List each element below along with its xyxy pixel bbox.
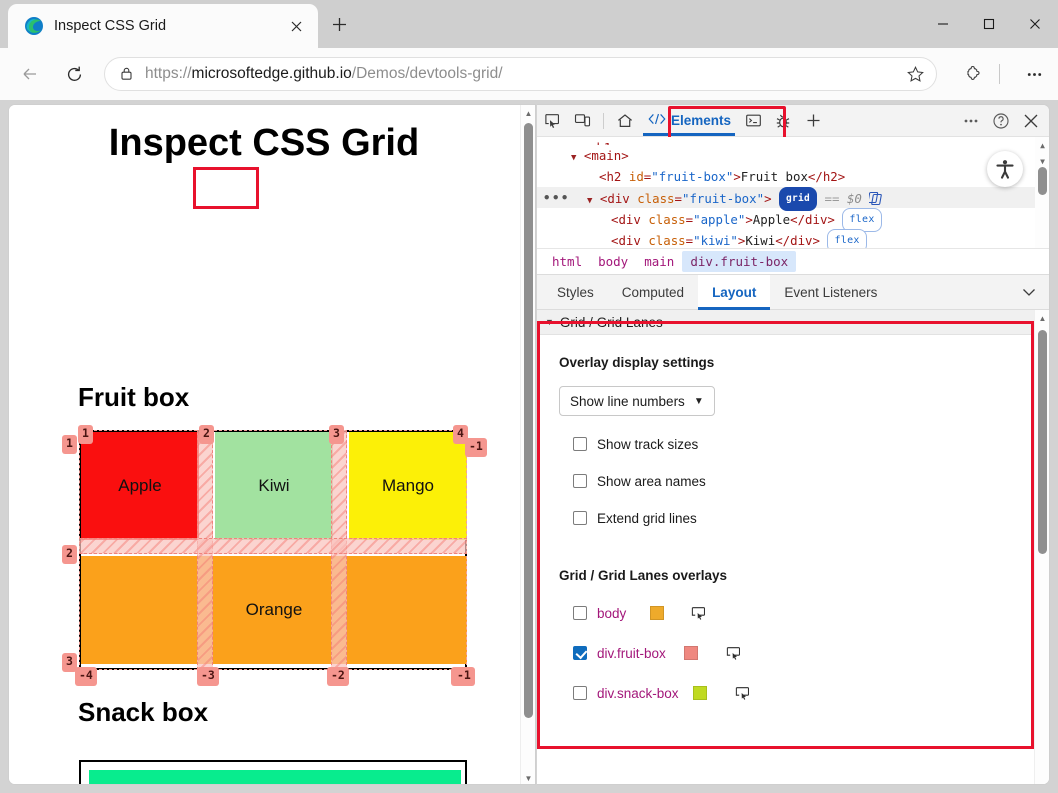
grid-line-badge: 1 — [62, 435, 77, 454]
devtools-panel: Elements — [537, 104, 1050, 785]
dom-attr-value: "apple" — [693, 212, 745, 227]
dom-tag-main: main — [591, 148, 621, 163]
dom-row-main[interactable]: ▼ <main> — [537, 145, 1050, 166]
tab-elements-label: Elements — [671, 113, 731, 128]
breadcrumb: html body main div.fruit-box — [537, 248, 1050, 274]
grid-cell-seaweed: Seaweed — [89, 770, 461, 785]
checkbox-extend-grid-lines[interactable]: Extend grid lines — [573, 504, 1050, 532]
overlay-name: body — [597, 606, 626, 621]
toolbar-right-actions — [947, 56, 1058, 92]
overlay-settings-title: Overlay display settings — [559, 355, 1050, 370]
ellipsis-icon[interactable] — [1016, 56, 1052, 92]
scrollbar-thumb[interactable] — [1038, 330, 1047, 554]
dom-row-partial[interactable]: <h1> — [537, 137, 1050, 145]
dom-equals-label: == — [825, 191, 847, 206]
new-tab-button[interactable] — [325, 10, 353, 38]
dom-text-node: Fruit box — [741, 169, 808, 184]
checkbox-label: Extend grid lines — [597, 511, 697, 526]
line-mode-select[interactable]: Show line numbers ▼ — [559, 386, 715, 416]
copy-styles-icon[interactable] — [869, 191, 884, 206]
chevron-down-icon[interactable] — [1020, 283, 1038, 306]
toolbar-divider — [999, 64, 1000, 84]
select-element-icon[interactable] — [726, 644, 744, 662]
browser-window: Inspect CSS Grid — [0, 0, 1058, 793]
caret-down-icon[interactable]: ▼ — [545, 317, 554, 327]
back-arrow-icon[interactable] — [12, 56, 48, 92]
maximize-button[interactable] — [966, 0, 1012, 48]
home-icon[interactable] — [612, 108, 638, 134]
checkbox-show-track-sizes[interactable]: Show track sizes — [573, 430, 1050, 458]
layout-pane-scrollbar[interactable]: ▲ ▼ — [1034, 310, 1049, 785]
tab-layout[interactable]: Layout — [698, 275, 770, 310]
devtools-toolbar: Elements — [537, 105, 1050, 137]
grid-line-badge: 2 — [199, 425, 214, 444]
grid-section-header[interactable]: ▼ Grid / Grid Lanes — [537, 310, 1050, 335]
extensions-puzzle-icon[interactable] — [955, 56, 991, 92]
tab-event-listeners[interactable]: Event Listeners — [770, 275, 891, 310]
reload-icon[interactable] — [56, 56, 92, 92]
checkbox-label: Show area names — [597, 474, 706, 489]
browser-toolbar: https://microsoftedge.github.io/Demos/de… — [0, 48, 1058, 100]
url-scheme: https:// — [145, 65, 192, 82]
console-icon[interactable] — [740, 108, 766, 134]
dom-row-more-icon[interactable]: ••• — [543, 187, 570, 208]
grid-line-badge: -1 — [453, 667, 475, 686]
checkbox-box[interactable] — [573, 686, 587, 700]
inspect-element-icon[interactable] — [539, 108, 565, 134]
scroll-up-arrow-icon[interactable]: ▲ — [1035, 310, 1050, 326]
overlays-title: Grid / Grid Lanes overlays — [559, 568, 1050, 583]
dom-attr-name: id — [629, 169, 644, 184]
dom-attr-value: "fruit-box" — [651, 169, 733, 184]
overlays-group: Grid / Grid Lanes overlays — [537, 568, 1050, 583]
breadcrumb-item-div-fruit-box[interactable]: div.fruit-box — [682, 251, 796, 272]
breadcrumb-item-html[interactable]: html — [544, 251, 590, 272]
dom-row-h2[interactable]: <h2 id="fruit-box">Fruit box</h2> — [537, 166, 1050, 187]
fruit-box-grid: Apple Kiwi Mango Orange — [79, 430, 467, 670]
scroll-up-arrow-icon[interactable]: ▲ — [521, 105, 536, 121]
grid-line-badge: 2 — [62, 545, 77, 564]
page-scrollbar[interactable]: ▲ ▼ — [520, 105, 535, 785]
device-emulation-icon[interactable] — [569, 108, 595, 134]
breadcrumb-item-body[interactable]: body — [590, 251, 636, 272]
overlay-item-body[interactable]: body — [573, 593, 1050, 633]
overlay-item-div-snack-box[interactable]: div.snack-box — [573, 673, 1050, 713]
line-mode-select-value: Show line numbers — [570, 394, 685, 409]
window-controls — [920, 0, 1058, 48]
grid-cell-kiwi: Kiwi — [215, 432, 333, 540]
dom-tree[interactable]: <h1> ▼ <main> <h2 id="fruit-box">Fruit b… — [537, 137, 1050, 248]
grid-section-title: Grid / Grid Lanes — [560, 315, 663, 330]
breadcrumb-item-main[interactable]: main — [636, 251, 682, 272]
plus-icon[interactable] — [800, 108, 826, 134]
dom-attr-value: "fruit-box" — [682, 191, 764, 206]
debugger-bug-icon[interactable] — [770, 108, 796, 134]
chevron-down-icon: ▼ — [694, 396, 704, 407]
help-question-icon[interactable] — [988, 108, 1014, 134]
grid-cell-apple: Apple — [81, 432, 199, 540]
tab-elements[interactable]: Elements — [640, 106, 738, 136]
dom-attr-value: "kiwi" — [693, 233, 738, 248]
scroll-up-arrow-icon[interactable]: ▲ — [1035, 137, 1050, 153]
devtools-toolbar-right — [956, 105, 1046, 137]
page-title: Inspect CSS Grid — [9, 122, 519, 165]
checkbox-box[interactable] — [573, 511, 587, 525]
close-icon[interactable] — [282, 12, 310, 40]
grid-line-badge: 3 — [329, 425, 344, 444]
grid-line-badge: -2 — [327, 667, 349, 686]
flex-badge[interactable]: flex — [827, 229, 866, 248]
overlay-name: div.fruit-box — [597, 646, 666, 661]
fruit-box-heading: Fruit box — [78, 382, 189, 413]
overlay-color-swatch — [693, 686, 707, 700]
overlay-color-swatch — [650, 606, 664, 620]
overlay-name: div.snack-box — [597, 686, 679, 701]
grid-line-badge: -4 — [75, 667, 97, 686]
ellipsis-icon[interactable] — [958, 108, 984, 134]
grid-cell-mango: Mango — [349, 432, 467, 540]
pane-tabs: Styles Computed Layout Event Listeners — [537, 274, 1050, 310]
dom-tag-h2: h2 — [606, 169, 621, 184]
edge-logo-icon — [24, 16, 44, 36]
minimize-button[interactable] — [920, 0, 966, 48]
expand-triangle-icon[interactable]: ▼ — [571, 153, 576, 163]
title-bar: Inspect CSS Grid — [0, 0, 1058, 48]
dom-text-node: Apple — [753, 212, 790, 227]
browser-tab[interactable]: Inspect CSS Grid — [8, 4, 318, 48]
expand-triangle-icon[interactable]: ▼ — [587, 196, 592, 206]
star-icon[interactable] — [900, 59, 930, 89]
url-path: /Demos/devtools-grid/ — [352, 65, 503, 82]
select-element-icon[interactable] — [735, 684, 753, 702]
dom-row-apple[interactable]: <div class="apple">Apple</div> flex — [537, 208, 1050, 229]
toolbar-divider — [603, 113, 604, 129]
dom-tree-scrollbar[interactable]: ▲ ▼ — [1035, 137, 1050, 248]
url-host: microsoftedge.github.io — [192, 65, 352, 82]
grid-line-badge: 3 — [62, 653, 77, 672]
overlay-color-swatch — [684, 646, 698, 660]
checkbox-label: Show track sizes — [597, 437, 698, 452]
checkbox-box[interactable] — [573, 474, 587, 488]
checkbox-show-area-names[interactable]: Show area names — [573, 467, 1050, 495]
checkbox-box[interactable] — [573, 606, 587, 620]
dom-dollar-zero: $0 — [847, 191, 862, 206]
scrollbar-thumb[interactable] — [1038, 167, 1047, 195]
scroll-down-arrow-icon[interactable]: ▼ — [521, 770, 536, 785]
page-viewport: Inspect CSS Grid Fruit box Apple Kiwi Ma… — [8, 104, 536, 785]
accessibility-person-icon[interactable] — [987, 151, 1023, 187]
window-close-button[interactable] — [1012, 0, 1058, 48]
grid-line-badge: -1 — [465, 438, 487, 457]
checkbox-box[interactable] — [573, 646, 587, 660]
web-page-content: Inspect CSS Grid Fruit box Apple Kiwi Ma… — [9, 105, 530, 785]
tab-title: Inspect CSS Grid — [54, 18, 272, 34]
address-bar[interactable]: https://microsoftedge.github.io/Demos/de… — [104, 57, 937, 91]
overlay-display-settings-group: Overlay display settings — [537, 355, 1050, 370]
url-text: https://microsoftedge.github.io/Demos/de… — [145, 65, 890, 83]
snack-box-heading: Snack box — [78, 697, 208, 728]
layout-pane: ▼ Grid / Grid Lanes Overlay display sett… — [537, 310, 1050, 785]
dom-text-node: Kiwi — [745, 233, 775, 248]
grid-line-badge: 1 — [78, 425, 93, 444]
select-element-icon[interactable] — [691, 604, 709, 622]
angle-brackets-icon — [647, 112, 667, 129]
grid-cell-orange: Orange — [81, 556, 467, 664]
tab-styles[interactable]: Styles — [543, 275, 608, 310]
dom-row-fruit-box-selected[interactable]: ••• ▼ <div class="fruit-box"> grid == $0 — [537, 187, 1050, 208]
checkbox-box[interactable] — [573, 437, 587, 451]
scrollbar-thumb[interactable] — [524, 123, 533, 718]
grid-line-badge: -3 — [197, 667, 219, 686]
lock-icon — [119, 66, 135, 82]
overlay-item-div-fruit-box[interactable]: div.fruit-box — [573, 633, 1050, 673]
close-icon[interactable] — [1018, 108, 1044, 134]
tab-computed[interactable]: Computed — [608, 275, 698, 310]
dom-row-kiwi[interactable]: <div class="kiwi">Kiwi</div> flex — [537, 229, 1050, 248]
snack-box-grid: Seaweed — [79, 760, 467, 785]
